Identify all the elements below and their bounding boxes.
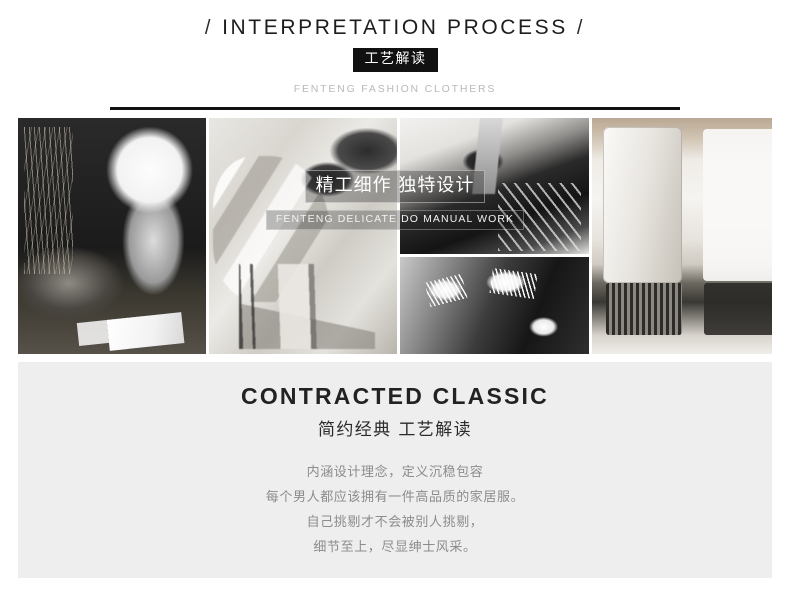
image-collage: 精工细作 独特设计 FENTENG DELICATE DO MANUAL WOR…	[18, 118, 772, 354]
photo-leather-rolls-tools	[209, 118, 397, 354]
collage-cell-top	[400, 118, 588, 254]
slash-right-decoration: /	[568, 17, 594, 39]
collage-column-2	[209, 118, 397, 354]
description-panel: CONTRACTED CLASSIC 简约经典 工艺解读 内涵设计理念，定义沉稳…	[18, 362, 772, 578]
panel-body-line: 自己挑剔才不会被别人挑剔，	[18, 510, 772, 535]
panel-body: 内涵设计理念，定义沉稳包容 每个男人都应该拥有一件高品质的家居服。 自己挑剔才不…	[18, 460, 772, 560]
page-subtitle: FENTENG FASHION CLOTHERS	[0, 83, 790, 95]
photo-sewing-machine-needle	[400, 118, 588, 254]
panel-title: CONTRACTED CLASSIC	[18, 381, 772, 411]
status-badge: 工艺解读	[353, 48, 438, 72]
badge-container: 工艺解读	[0, 48, 790, 72]
header-divider	[110, 107, 680, 110]
photo-white-feather-tufts	[400, 257, 588, 354]
photo-lamp-knitting-basket	[18, 118, 206, 354]
panel-body-line: 内涵设计理念，定义沉稳包容	[18, 460, 772, 485]
panel-subtitle: 简约经典 工艺解读	[18, 418, 772, 443]
collage-cell-bottom	[400, 257, 588, 354]
page-header: /INTERPRETATION PROCESS/ 工艺解读 FENTENG FA…	[0, 0, 790, 110]
collage-column-4	[592, 118, 772, 354]
panel-body-line: 细节至上，尽显绅士风采。	[18, 535, 772, 560]
photo-embroidery-machine-heads	[592, 118, 772, 354]
page-title: /INTERPRETATION PROCESS/	[0, 14, 790, 42]
product-detail-page: /INTERPRETATION PROCESS/ 工艺解读 FENTENG FA…	[0, 0, 790, 597]
page-title-text: INTERPRETATION PROCESS	[222, 16, 568, 39]
slash-left-decoration: /	[196, 17, 222, 39]
collage-column-3	[400, 118, 588, 354]
collage-column-1	[18, 118, 206, 354]
panel-body-line: 每个男人都应该拥有一件高品质的家居服。	[18, 485, 772, 510]
